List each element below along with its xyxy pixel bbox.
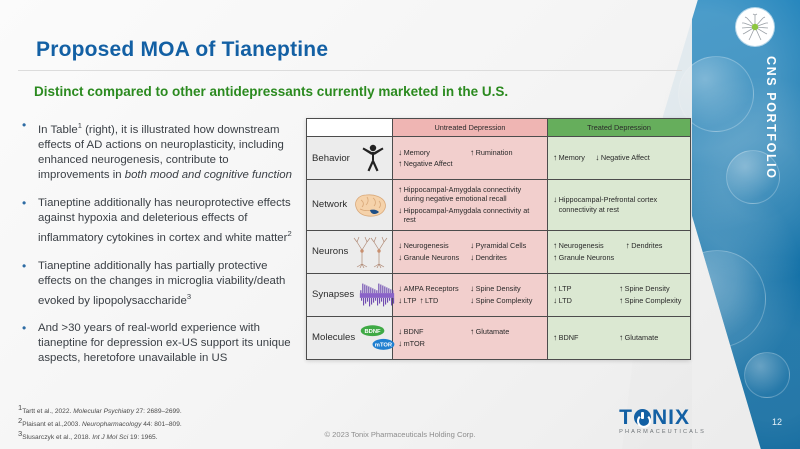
cell-item: ↑Negative Affect: [398, 159, 542, 168]
category-label: Behavior: [312, 153, 350, 164]
cell-item: ↓Hippocampal-Amygdala connectivity at re…: [398, 206, 542, 225]
bullet-text: Tianeptine additionally has neuroprotect…: [38, 196, 298, 246]
cell-item: ↓Negative Affect: [595, 153, 685, 162]
treated-cell: ↑LTP↑Spine Density↓LTD↑Spine Complexity: [548, 273, 691, 316]
cell-label: Hippocampal-Amygdala connectivity at res…: [404, 206, 542, 225]
arrow-up-icon: ↑: [398, 185, 402, 194]
footnote-item: 2Plaisant et al.,2003. Neuropharmacology…: [18, 417, 182, 430]
cell-item: ↑Glutamate: [619, 333, 685, 342]
treated-cell: ↑BDNF↑Glutamate: [548, 316, 691, 359]
brain-icon: [350, 188, 390, 222]
arrow-up-icon: ↑: [398, 159, 402, 168]
glass-bubble-icon: [744, 352, 790, 398]
table-row: Synapses↓AMPA Receptors↓Spine Density↓LT…: [307, 273, 691, 316]
cell-item: ↑Glutamate: [470, 327, 542, 336]
cell-label: Rumination: [476, 148, 513, 157]
cell-item: ↑Neurogenesis: [553, 241, 626, 250]
cell-item: ↑LTP: [553, 284, 619, 293]
page-subtitle: Distinct compared to other antidepressan…: [34, 84, 508, 99]
moa-table: Untreated Depression Treated Depression …: [306, 118, 690, 360]
cell-item: ↑Spine Complexity: [619, 296, 685, 305]
cell-label: Negative Affect: [601, 153, 650, 162]
arrow-down-icon: ↓: [553, 195, 557, 204]
category-cell: Synapses: [307, 273, 393, 316]
tonix-wordmark: TNIX: [619, 407, 706, 428]
cell-item: ↓BDNF: [398, 327, 470, 336]
power-o-icon: [634, 409, 651, 426]
arrow-down-icon: ↓: [398, 253, 402, 262]
cell-item: ↑BDNF: [553, 333, 619, 342]
cell-label: Pyramidal Cells: [476, 241, 527, 250]
arrow-up-icon: ↑: [553, 153, 557, 162]
bullet-item: •And >30 years of real-world experience …: [18, 321, 298, 366]
cell-item: ↑Dendrites: [626, 241, 685, 250]
arrow-down-icon: ↓: [470, 284, 474, 293]
synapse-spines-icon: [357, 278, 397, 312]
category-label: Molecules: [312, 332, 355, 343]
untreated-cell: ↑Hippocampal-Amygdala connectivity durin…: [393, 180, 548, 231]
arrow-up-icon: ↑: [553, 253, 557, 262]
cell-item: ↓Pyramidal Cells: [470, 241, 542, 250]
cell-label: Hippocampal-Amygdala connectivity during…: [404, 185, 542, 204]
cell-item: ↓Spine Density: [470, 284, 542, 293]
neuron-icon: [736, 8, 774, 46]
cell-label: LTP: [559, 284, 572, 293]
bullet-dot-icon: •: [18, 118, 38, 183]
slide: CNS PORTFOLIO Proposed MOA of Tianeptine…: [0, 0, 800, 449]
untreated-cell: ↓AMPA Receptors↓Spine Density↓LTP↑LTD↓Sp…: [393, 273, 548, 316]
category-cell: Network: [307, 180, 393, 231]
arrow-down-icon: ↓: [398, 241, 402, 250]
arrow-down-icon: ↓: [398, 148, 402, 157]
table-row: Behavior↓Memory↑Rumination↑Negative Affe…: [307, 137, 691, 180]
cell-item: ↓LTD: [553, 296, 619, 305]
cell-item: ↓Hippocampal-Prefrontal cortex connectiv…: [553, 195, 685, 214]
arrow-down-icon: ↓: [398, 296, 402, 305]
cell-label: Glutamate: [625, 333, 659, 342]
arrow-down-icon: ↓: [553, 296, 557, 305]
tonix-logo: TNIX PHARMACEUTICALS: [619, 407, 706, 435]
header-treated: Treated Depression: [548, 119, 691, 137]
logo-letter-t: T: [619, 407, 633, 428]
cell-label: LTD: [425, 296, 438, 305]
arrow-down-icon: ↓: [470, 296, 474, 305]
cell-label: Spine Density: [625, 284, 670, 293]
cell-item: ↓Spine Complexity: [470, 296, 542, 305]
table-row: Neurons↓Neurogenesis↓Pyramidal Cells↓Gra…: [307, 230, 691, 273]
cell-label: Memory: [404, 148, 430, 157]
cell-item: ↑Granule Neurons: [553, 253, 685, 262]
arrow-up-icon: ↑: [470, 148, 474, 157]
cell-label: LTP: [404, 296, 417, 305]
title-divider: [18, 70, 682, 71]
arrow-up-icon: ↑: [470, 327, 474, 336]
table-row: MoleculesBDNFmTOR↓BDNF↑Glutamate↓mTOR↑BD…: [307, 316, 691, 359]
bullet-text: In Table1 (right), it is illustrated how…: [38, 118, 298, 183]
arrow-down-icon: ↓: [470, 241, 474, 250]
cell-label: Granule Neurons: [404, 253, 460, 262]
category-label: Synapses: [312, 289, 354, 300]
header-blank: [307, 119, 393, 137]
treated-cell: ↓Hippocampal-Prefrontal cortex connectiv…: [548, 180, 691, 231]
svg-text:mTOR: mTOR: [375, 342, 393, 348]
cell-item: ↑Memory: [553, 153, 595, 162]
cell-label: mTOR: [404, 339, 425, 348]
cell-item: ↑Hippocampal-Amygdala connectivity durin…: [398, 185, 542, 204]
svg-text:BDNF: BDNF: [365, 329, 382, 335]
bullet-text: And >30 years of real-world experience w…: [38, 321, 298, 366]
arrow-up-icon: ↑: [553, 333, 557, 342]
cell-item: ↓Memory: [398, 148, 470, 157]
untreated-cell: ↓BDNF↑Glutamate↓mTOR: [393, 316, 548, 359]
arrow-up-icon: ↑: [553, 284, 557, 293]
arrow-up-icon: ↑: [619, 296, 623, 305]
footnote-item: 1Tartt et al., 2022. Molecular Psychiatr…: [18, 404, 182, 417]
page-title: Proposed MOA of Tianeptine: [36, 38, 328, 62]
category-label: Neurons: [312, 246, 348, 257]
cell-item: ↓LTP↑LTD: [398, 296, 470, 305]
arrow-down-icon: ↓: [595, 153, 599, 162]
tonix-tagline: PHARMACEUTICALS: [619, 429, 706, 435]
cell-label: Spine Complexity: [476, 296, 533, 305]
cell-label: Negative Affect: [404, 159, 453, 168]
cell-label: Granule Neurons: [559, 253, 615, 262]
arrow-down-icon: ↓: [470, 253, 474, 262]
arrow-up-icon: ↑: [619, 284, 623, 293]
cell-item: ↓Neurogenesis: [398, 241, 470, 250]
bullet-item: •Tianeptine additionally has partially p…: [18, 259, 298, 309]
neuron-dendrites-icon: [351, 235, 391, 269]
cell-label: Neurogenesis: [404, 241, 449, 250]
cell-label: Neurogenesis: [559, 241, 604, 250]
untreated-cell: ↓Memory↑Rumination↑Negative Affect: [393, 137, 548, 180]
cell-item: ↓mTOR: [398, 339, 542, 348]
side-portfolio-label: CNS PORTFOLIO: [764, 56, 778, 180]
cell-label: Dendrites: [631, 241, 662, 250]
arrow-down-icon: ↓: [398, 206, 402, 215]
category-cell: Neurons: [307, 230, 393, 273]
cell-label: Dendrites: [476, 253, 507, 262]
bullet-list: •In Table1 (right), it is illustrated ho…: [18, 118, 298, 379]
cell-label: AMPA Receptors: [404, 284, 459, 293]
bullet-dot-icon: •: [18, 196, 38, 246]
header-untreated: Untreated Depression: [393, 119, 548, 137]
cell-label: Hippocampal-Prefrontal cortex connectivi…: [559, 195, 685, 214]
cell-item: ↑Rumination: [470, 148, 535, 157]
category-cell: MoleculesBDNFmTOR: [307, 316, 393, 359]
cell-label: Spine Density: [476, 284, 521, 293]
cell-item: ↓Granule Neurons: [398, 253, 470, 262]
category-label: Network: [312, 199, 347, 210]
bdnf-mtor-badges-icon: BDNFmTOR: [358, 321, 398, 355]
table-row: Network↑Hippocampal-Amygdala connectivit…: [307, 180, 691, 231]
bullet-text: Tianeptine additionally has partially pr…: [38, 259, 298, 309]
arrow-up-icon: ↑: [553, 241, 557, 250]
cell-label: Spine Complexity: [625, 296, 682, 305]
untreated-cell: ↓Neurogenesis↓Pyramidal Cells↓Granule Ne…: [393, 230, 548, 273]
bullet-dot-icon: •: [18, 321, 38, 366]
bullet-item: •Tianeptine additionally has neuroprotec…: [18, 196, 298, 246]
page-number: 12: [772, 417, 782, 427]
cell-label: BDNF: [559, 333, 579, 342]
cell-label: Memory: [559, 153, 585, 162]
treated-cell: ↑Neurogenesis↑Dendrites↑Granule Neurons: [548, 230, 691, 273]
bullet-item: •In Table1 (right), it is illustrated ho…: [18, 118, 298, 183]
arrow-down-icon: ↓: [398, 327, 402, 336]
cell-item: ↓AMPA Receptors: [398, 284, 470, 293]
cell-item: ↓Dendrites: [470, 253, 542, 262]
table-header-row: Untreated Depression Treated Depression: [307, 119, 691, 137]
arrow-down-icon: ↓: [398, 284, 402, 293]
arrow-up-icon: ↑: [619, 333, 623, 342]
logo-letters-nix: NIX: [652, 407, 690, 428]
arrow-up-icon: ↑: [419, 296, 423, 305]
treated-cell: ↑Memory↓Negative Affect: [548, 137, 691, 180]
category-cell: Behavior: [307, 137, 393, 180]
person-arms-up-icon: [353, 141, 393, 175]
cell-label: BDNF: [404, 327, 424, 336]
bullet-dot-icon: •: [18, 259, 38, 309]
arrow-up-icon: ↑: [626, 241, 630, 250]
cell-label: LTD: [559, 296, 572, 305]
cell-label: Glutamate: [476, 327, 510, 336]
arrow-down-icon: ↓: [398, 339, 402, 348]
cell-item: ↑Spine Density: [619, 284, 685, 293]
